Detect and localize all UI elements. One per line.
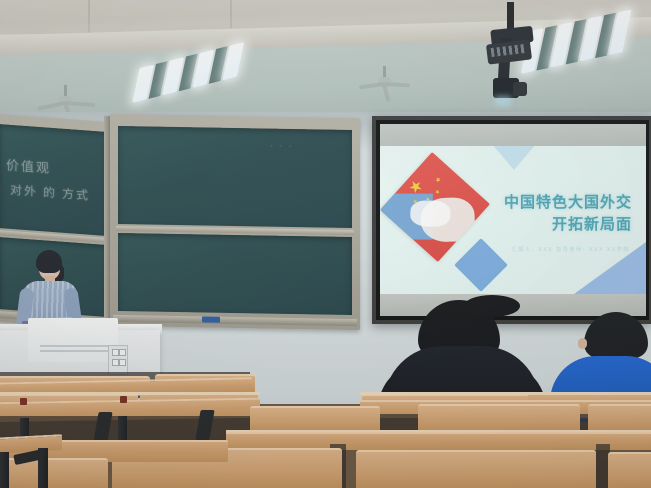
slide-subtitle: 汇报人：XXX 指导老师：XXX XX学院 xyxy=(512,246,630,253)
classroom-photo: 价值观 对外 的 方式 · · · ★ ★ ★ ★ xyxy=(0,0,651,488)
lectern-label-text xyxy=(40,345,112,355)
slide-blue-diamond-accent xyxy=(454,238,508,292)
lectern-control-panel xyxy=(108,345,128,375)
ceiling-fan-left xyxy=(40,85,90,111)
slide-top-triangle-accent xyxy=(492,146,536,170)
student-blue-hair xyxy=(584,312,648,358)
slide-title-line1: 中国特色大国外交 xyxy=(504,192,632,214)
projection-screen: ★ ★ ★ ★ ★ 中国特色大国外交 开拓新局面 汇报人：XXX 指导老师：XX… xyxy=(372,116,651,324)
blackboard-center: · · · xyxy=(110,114,360,330)
slide-title-line2: 开拓新局面 xyxy=(504,214,632,236)
lectern-front-panel xyxy=(28,318,118,362)
student-blue-ear xyxy=(578,338,587,349)
ceiling-projector xyxy=(481,2,541,102)
presentation-slide: ★ ★ ★ ★ ★ 中国特色大国外交 开拓新局面 汇报人：XXX 指导老师：XX… xyxy=(380,146,646,294)
screen-top-band xyxy=(380,124,646,146)
blackboard-eraser xyxy=(202,316,220,322)
blackboard-chalk-faint: · · · xyxy=(270,141,294,151)
teacher-hair xyxy=(36,250,62,273)
blackboard-chalk-line1: 价值观 xyxy=(6,155,51,177)
ceiling-fan-right xyxy=(362,66,406,90)
slide-title: 中国特色大国外交 开拓新局面 xyxy=(504,192,632,236)
